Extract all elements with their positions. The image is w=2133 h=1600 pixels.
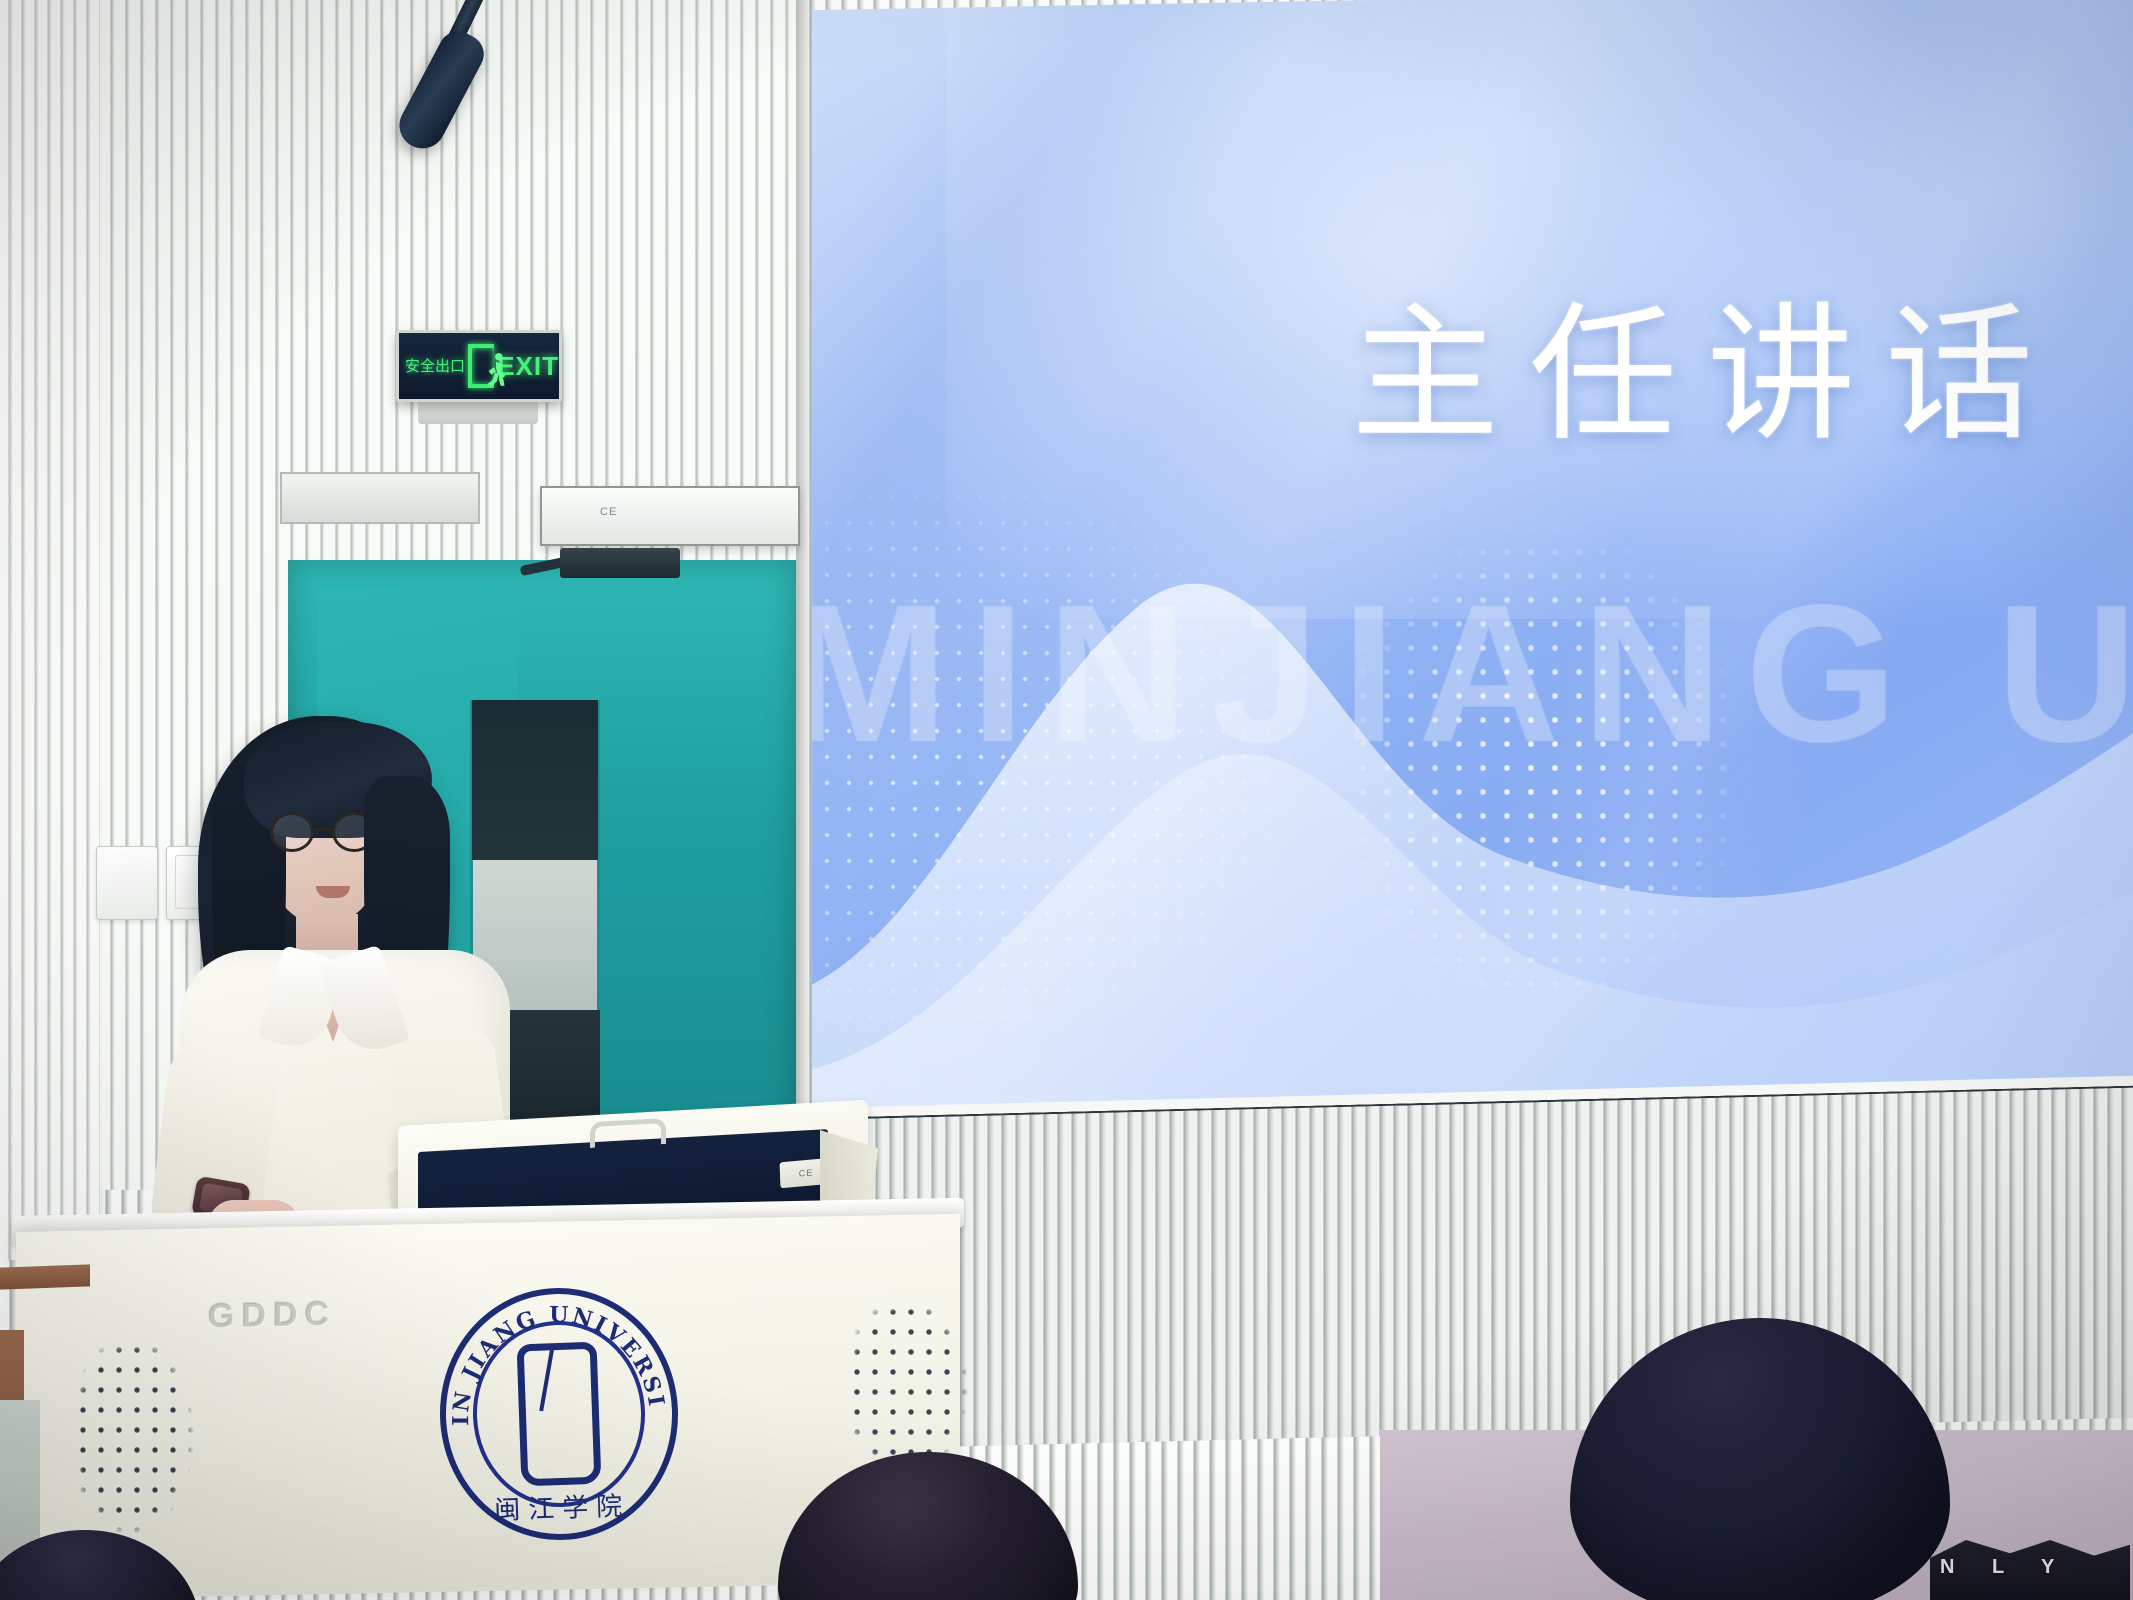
eyeglass-lens-left [270,812,314,852]
wall-pillar-left [0,0,100,1260]
university-seal: MIN JIANG UNIVERSITY 闽江学院 [436,1284,683,1544]
running-man-icon [468,344,494,388]
seat-back-letters: N L Y [1940,1556,2070,1579]
door-header-label: CE [600,506,617,518]
exit-sign-chinese-label: 安全出口 [405,359,465,374]
slide-halftone-dots-center [1159,492,1773,1090]
podium-wood-trim-top [0,1264,90,1289]
door-header-sign [540,486,800,546]
lecture-hall-photo: MINJIANG UNIVERSITY 主任讲话 [0,0,2133,1600]
door-header-left [280,472,480,524]
door-closer-body [560,548,680,578]
podium-brand-emboss: GDDC [208,1295,336,1337]
podium-speaker-grille-left [56,1320,206,1550]
projection-screen: MINJIANG UNIVERSITY 主任讲话 [812,0,2133,1136]
svg-text:MIN JIANG UNIVERSITY: MIN JIANG UNIVERSITY [436,1284,670,1427]
exit-sign-mount [418,402,538,424]
slide-title: 主任讲话 [1351,254,2063,469]
exit-sign: 安全出口 EXIT [396,330,562,402]
podium-handle[interactable] [590,1118,666,1148]
wall-pillar-shadow [796,0,814,1180]
eyeglass-bridge [314,828,332,831]
wall-lower-ribbed [812,1088,2133,1450]
